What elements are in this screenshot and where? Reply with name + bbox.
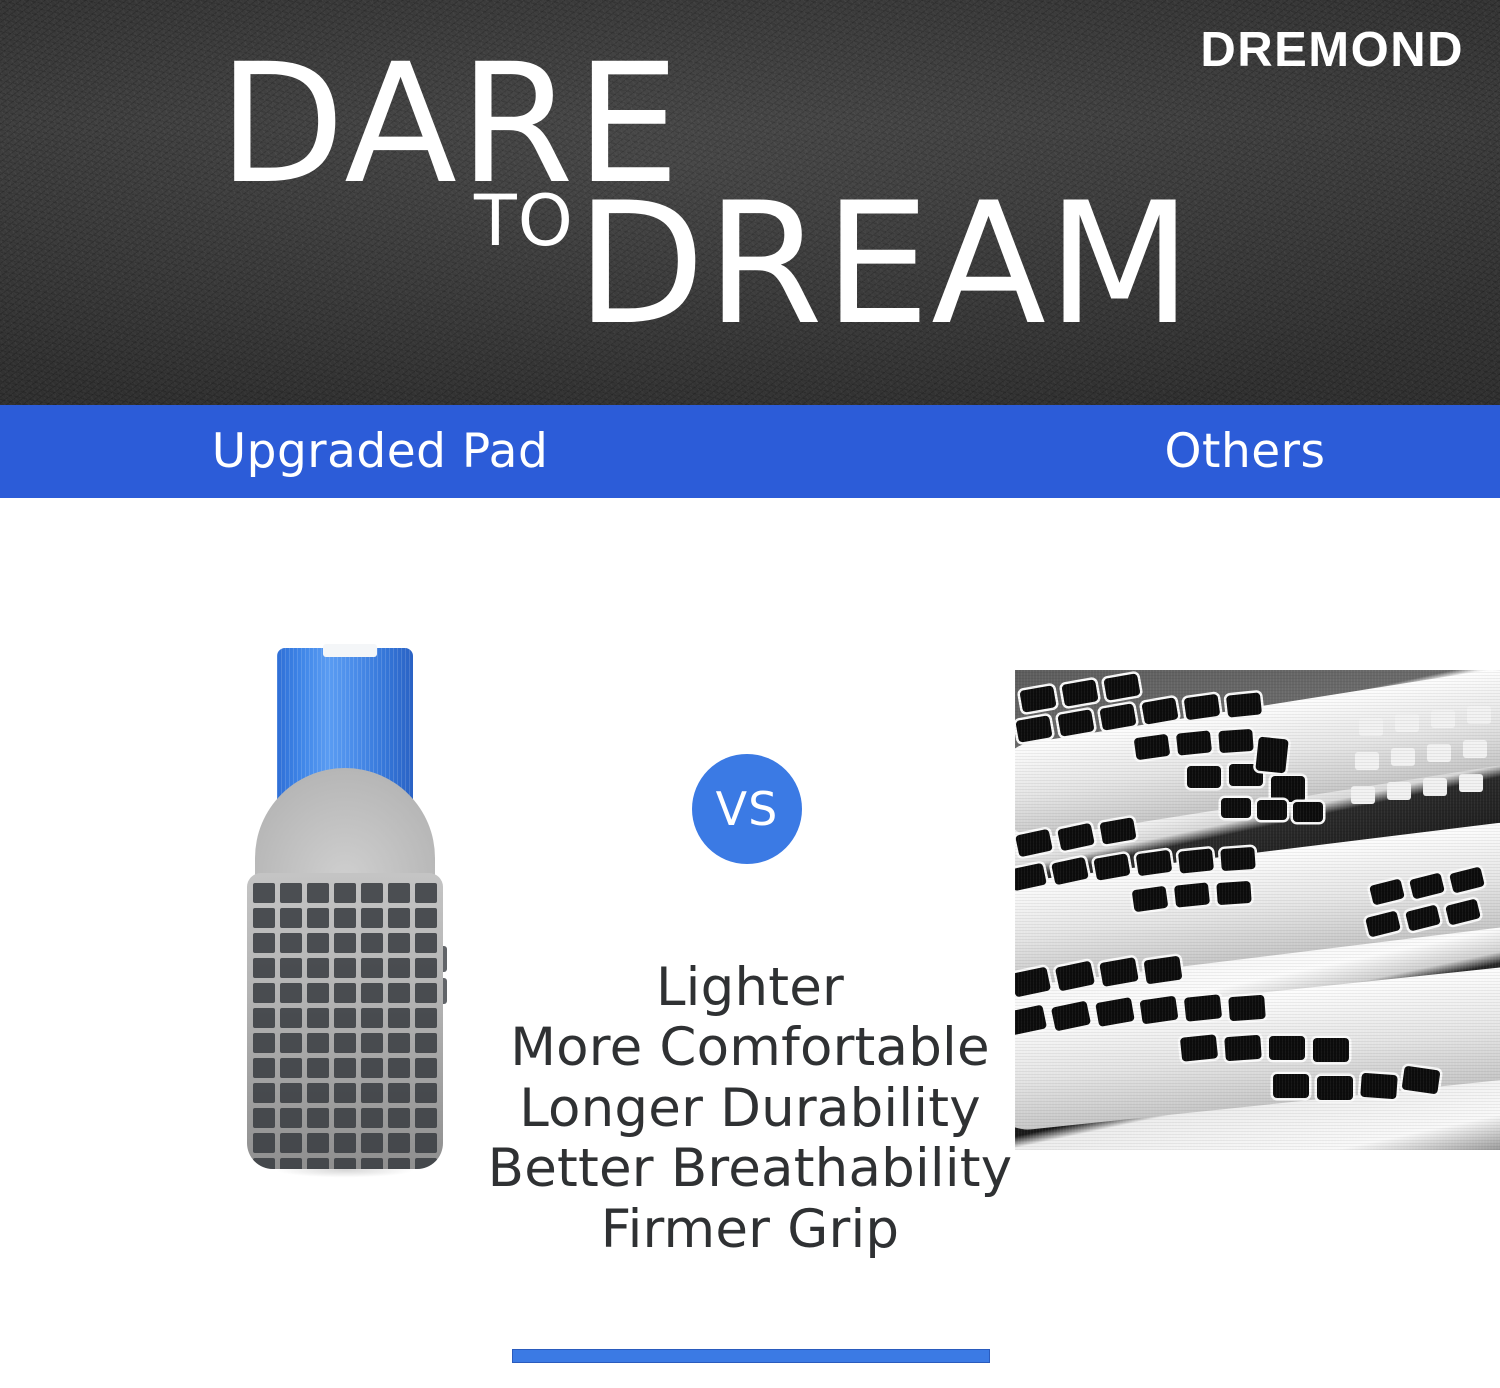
grip-pad [361,1008,383,1028]
grip-pad [334,983,356,1003]
grip-pad [361,908,383,928]
grip-pad [361,1158,383,1169]
grip-pad [280,1058,302,1078]
grip-pad [388,933,410,953]
sock-sole-grip-pads [253,883,437,1153]
grip-pad [415,908,437,928]
grip-pad [253,883,275,903]
grip-pad [415,883,437,903]
versus-badge: VS [692,754,802,864]
grip-pad [334,1083,356,1103]
grip-pad [388,883,410,903]
grip-pad [334,1158,356,1169]
grip-pad [253,1033,275,1053]
sock-foot-section [247,873,443,1169]
grip-pad [388,1008,410,1028]
grip-pad [334,933,356,953]
grip-pad [307,983,329,1003]
grip-pad [361,1058,383,1078]
grip-pad [280,1033,302,1053]
grip-pad [361,1083,383,1103]
grip-pad [280,908,302,928]
grip-pad [388,1058,410,1078]
grip-pad [388,1083,410,1103]
grip-pad [415,1108,437,1128]
feature-item: Lighter [455,958,1045,1018]
grip-pad [280,883,302,903]
grip-pad [361,883,383,903]
grip-pad [361,958,383,978]
headline-line-to-dream: TO DREAM [474,180,1193,348]
grip-pad [361,983,383,1003]
feature-item: Better Breathability [455,1139,1045,1199]
grip-pad [334,1133,356,1153]
grip-pad [253,1133,275,1153]
compare-label-upgraded-pad: Upgraded Pad [120,405,640,498]
grip-pad [253,1108,275,1128]
grip-pad [307,1133,329,1153]
grip-pad [415,1083,437,1103]
grip-pad [307,933,329,953]
grip-pad [280,933,302,953]
grip-pad [253,1058,275,1078]
comparison-header-bar: Upgraded Pad Others [0,405,1500,498]
headline-word-to: TO [474,180,574,256]
grip-pad [415,1008,437,1028]
grip-pad [361,1133,383,1153]
grip-pad [307,958,329,978]
feature-item: Longer Durability [455,1079,1045,1139]
sock-heel-tab [323,644,377,657]
comparison-body: VS Lighter More Comfortable Longer Durab… [0,498,1500,1388]
grip-pad [415,933,437,953]
grip-pad [415,1158,437,1169]
grip-pad [334,1108,356,1128]
others-socks-photo [1015,670,1500,1150]
product-comparison-infographic: DREMOND DARE TO DREAM Upgraded Pad Other… [0,0,1500,1388]
grip-pad [388,1108,410,1128]
grip-pad [253,1083,275,1103]
grip-pad [253,908,275,928]
upgraded-pad-sock-image [235,648,455,1168]
grip-pad [253,958,275,978]
grip-pad [415,958,437,978]
grip-pad [334,883,356,903]
grip-pad [361,1033,383,1053]
grip-pad [388,1033,410,1053]
grip-pad [307,883,329,903]
grip-pad [280,1083,302,1103]
hero-headline: DARE TO DREAM [0,0,1500,406]
feature-item: Firmer Grip [455,1200,1045,1260]
grip-pad [253,983,275,1003]
grip-pad [334,1008,356,1028]
headline-word-dream: DREAM [576,180,1193,348]
grip-pad [415,983,437,1003]
grip-pad [388,1133,410,1153]
grip-pad [415,1058,437,1078]
grip-pad [307,1083,329,1103]
grip-pad [280,983,302,1003]
grip-pad [253,1158,275,1169]
grip-pad [388,958,410,978]
grip-pad [334,908,356,928]
grip-pad [361,933,383,953]
bottom-accent-bar [512,1349,990,1363]
grip-pad [307,908,329,928]
grip-pad [307,1033,329,1053]
grip-pad [388,908,410,928]
grip-pad [280,1108,302,1128]
grip-pad [334,1058,356,1078]
grip-pad [334,958,356,978]
grip-pad [280,1133,302,1153]
grip-pad [280,1008,302,1028]
feature-list: Lighter More Comfortable Longer Durabili… [455,958,1045,1260]
compare-label-others: Others [1020,405,1470,498]
grip-pad [361,1108,383,1128]
grip-pad [388,983,410,1003]
grip-pad [307,1108,329,1128]
grip-pad [253,1008,275,1028]
grip-pad [415,1133,437,1153]
grip-pad [334,1033,356,1053]
grip-pad [280,1158,302,1169]
grip-pad [253,933,275,953]
others-photo-grain [1015,670,1500,1150]
grip-pad [388,1158,410,1169]
grip-pad [307,1008,329,1028]
hero-banner: DREMOND DARE TO DREAM [0,0,1500,406]
grip-pad [307,1058,329,1078]
grip-pad [280,958,302,978]
grip-pad [415,1033,437,1053]
feature-item: More Comfortable [455,1018,1045,1078]
grip-pad [307,1158,329,1169]
